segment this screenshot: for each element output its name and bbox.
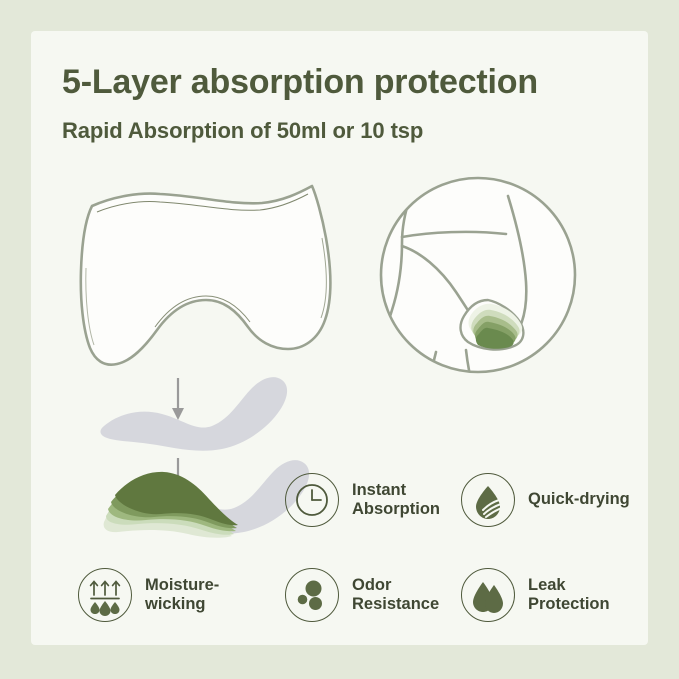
feature-leak-protection[interactable]: Leak Protection: [461, 568, 610, 622]
feature-label: Odor Resistance: [352, 576, 439, 615]
page-title: 5-Layer absorption protection: [62, 63, 538, 102]
feature-label: Quick-drying: [528, 490, 630, 509]
feature-label: Moisture- wicking: [145, 576, 219, 615]
double-droplet-icon: [461, 568, 515, 622]
feature-moisture-wicking[interactable]: Moisture- wicking: [78, 568, 219, 622]
page-subtitle: Rapid Absorption of 50ml or 10 tsp: [62, 118, 423, 144]
feature-label: Instant Absorption: [352, 481, 440, 520]
feature-odor-resistance[interactable]: Odor Resistance: [285, 568, 439, 622]
infographic-root: 5-Layer absorption protection Rapid Abso…: [0, 0, 679, 679]
clock-icon: [285, 473, 339, 527]
droplet-wind-icon: [461, 473, 515, 527]
feature-instant-absorption[interactable]: Instant Absorption: [285, 473, 440, 527]
arrows-droplets-icon: [78, 568, 132, 622]
three-dots-icon: [285, 568, 339, 622]
feature-label: Leak Protection: [528, 576, 610, 615]
feature-quick-drying[interactable]: Quick-drying: [461, 473, 630, 527]
